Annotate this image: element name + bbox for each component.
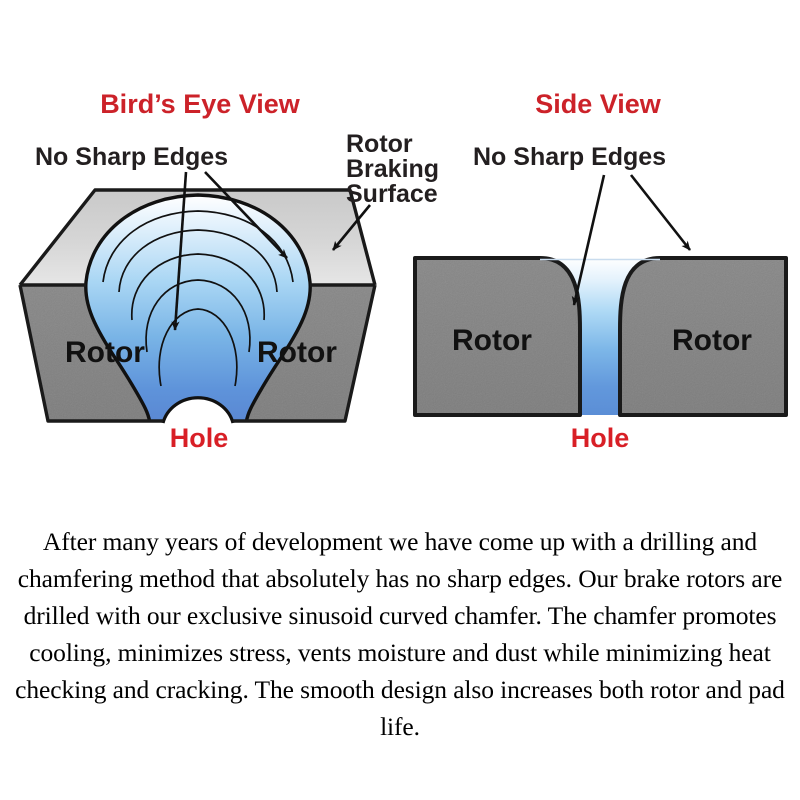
birds-eye-view-block: Rotor Rotor [20,190,375,427]
rotor-label-left-sv: Rotor [452,324,532,357]
description-paragraph: After many years of development we have … [0,523,800,745]
rotor-braking-surface-line-2: Braking [346,155,439,183]
hole-label-sv: Hole [571,423,630,453]
side-view-title: Side View [535,89,662,119]
birds-eye-view-title: Bird’s Eye View [100,89,301,119]
no-sharp-edges-label-bev: No Sharp Edges [35,143,228,171]
rotor-label-right-sv: Rotor [672,324,752,357]
arrow-no-sharp-edges-right-sv [631,175,690,250]
rotor-label-right-bev: Rotor [257,336,337,369]
rotor-label-left-bev: Rotor [65,336,145,369]
no-sharp-edges-label-sv: No Sharp Edges [473,143,666,171]
rotor-braking-surface-line-1: Rotor [346,130,413,158]
side-view-block: Rotor Rotor [415,258,786,415]
hole-label-bev: Hole [170,423,229,453]
rotor-braking-surface-label: Rotor Braking Surface [346,130,439,208]
rotor-braking-surface-line-3: Surface [346,180,438,208]
diagram-page: Rotor Rotor Rotor Rotor [0,0,800,800]
